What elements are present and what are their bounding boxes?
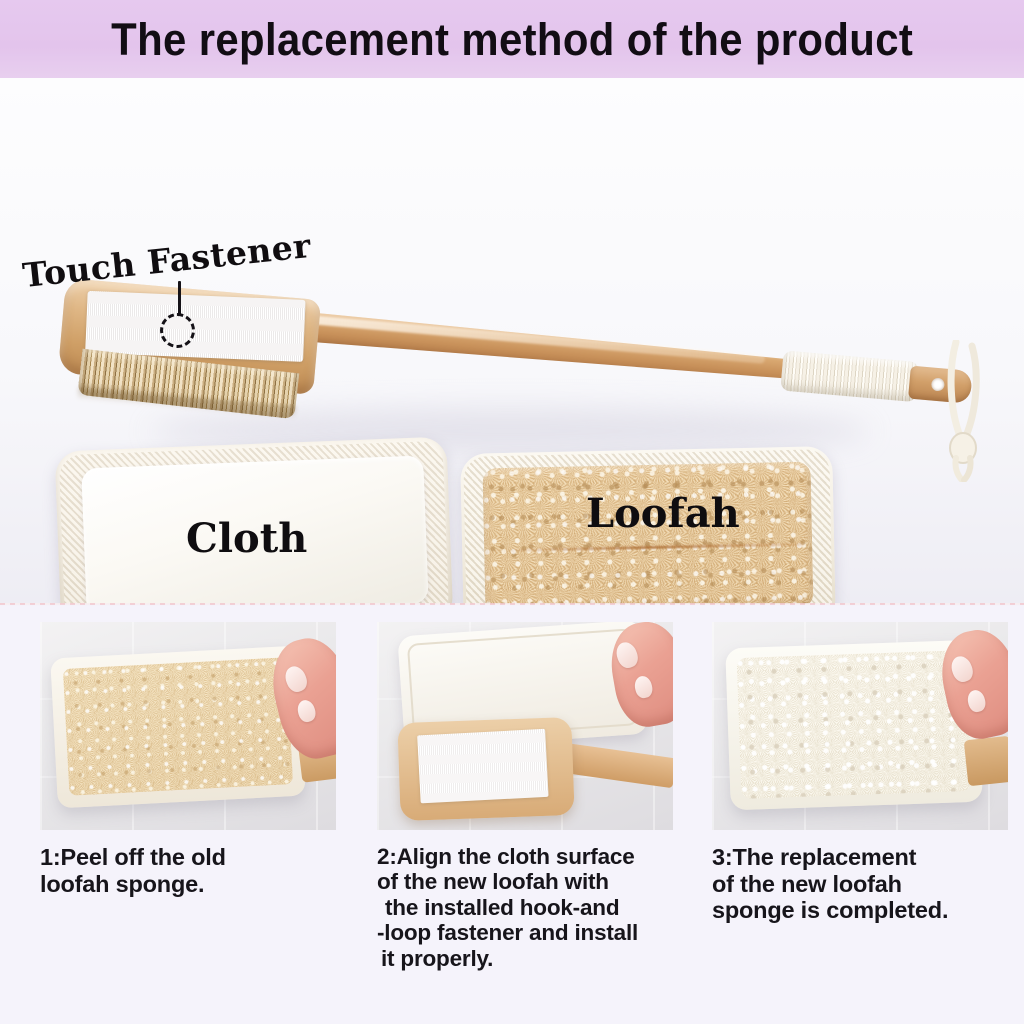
caption-line: of the new loofah <box>712 871 1008 898</box>
caption-line: 3:The replacement <box>712 844 1008 871</box>
dashed-circle-marker <box>160 313 195 348</box>
loofah-texture <box>63 657 293 796</box>
touch-fastener-strip <box>85 291 305 362</box>
page-title: The replacement method of the product <box>111 17 913 62</box>
step-1: 1:Peel off the old loofah sponge. <box>40 622 336 897</box>
caption-line: of the new loofah with <box>377 869 673 894</box>
cord-icon <box>942 340 990 482</box>
brush-head-with-fastener <box>397 717 574 821</box>
loofah-texture <box>737 650 972 799</box>
steps-section: 1:Peel off the old loofah sponge. <box>0 606 1024 1024</box>
touch-fastener-strip <box>417 729 548 804</box>
caption-line: the installed hook-and <box>377 895 673 920</box>
hanging-cord-loop <box>942 340 990 482</box>
step-1-caption: 1:Peel off the old loofah sponge. <box>40 844 336 897</box>
hero-product-photo: Touch Fastener Cloth Loofah <box>0 78 1024 604</box>
callout-leader-line <box>178 281 181 315</box>
step-3: 3:The replacement of the new loofah spon… <box>712 622 1008 924</box>
caption-line: sponge is completed. <box>712 897 1008 924</box>
infographic-page: The replacement method of the product <box>0 0 1024 1024</box>
caption-line: it properly. <box>377 946 673 971</box>
caption-line: -loop fastener and install <box>377 920 673 945</box>
step-3-caption: 3:The replacement of the new loofah spon… <box>712 844 1008 924</box>
cloth-label: Cloth <box>186 515 307 562</box>
brush-head <box>56 278 321 418</box>
caption-line: 2:Align the cloth surface <box>377 844 673 869</box>
loofah-label: Loofah <box>586 490 740 537</box>
old-loofah-pad <box>50 646 306 809</box>
step-2-caption: 2:Align the cloth surface of the new loo… <box>377 844 673 971</box>
rope-wrapped-grip <box>780 350 919 402</box>
section-divider <box>0 603 1024 605</box>
step-2: 2:Align the cloth surface of the new loo… <box>377 622 673 971</box>
brush-wood-edge <box>964 736 1008 787</box>
header-band: The replacement method of the product <box>0 0 1024 78</box>
peel-off-old-loofah-photo <box>40 622 336 830</box>
replacement-completed-photo <box>712 622 1008 830</box>
align-cloth-to-fastener-photo <box>377 622 673 830</box>
caption-line: loofah sponge. <box>40 871 336 898</box>
caption-line: 1:Peel off the old <box>40 844 336 871</box>
